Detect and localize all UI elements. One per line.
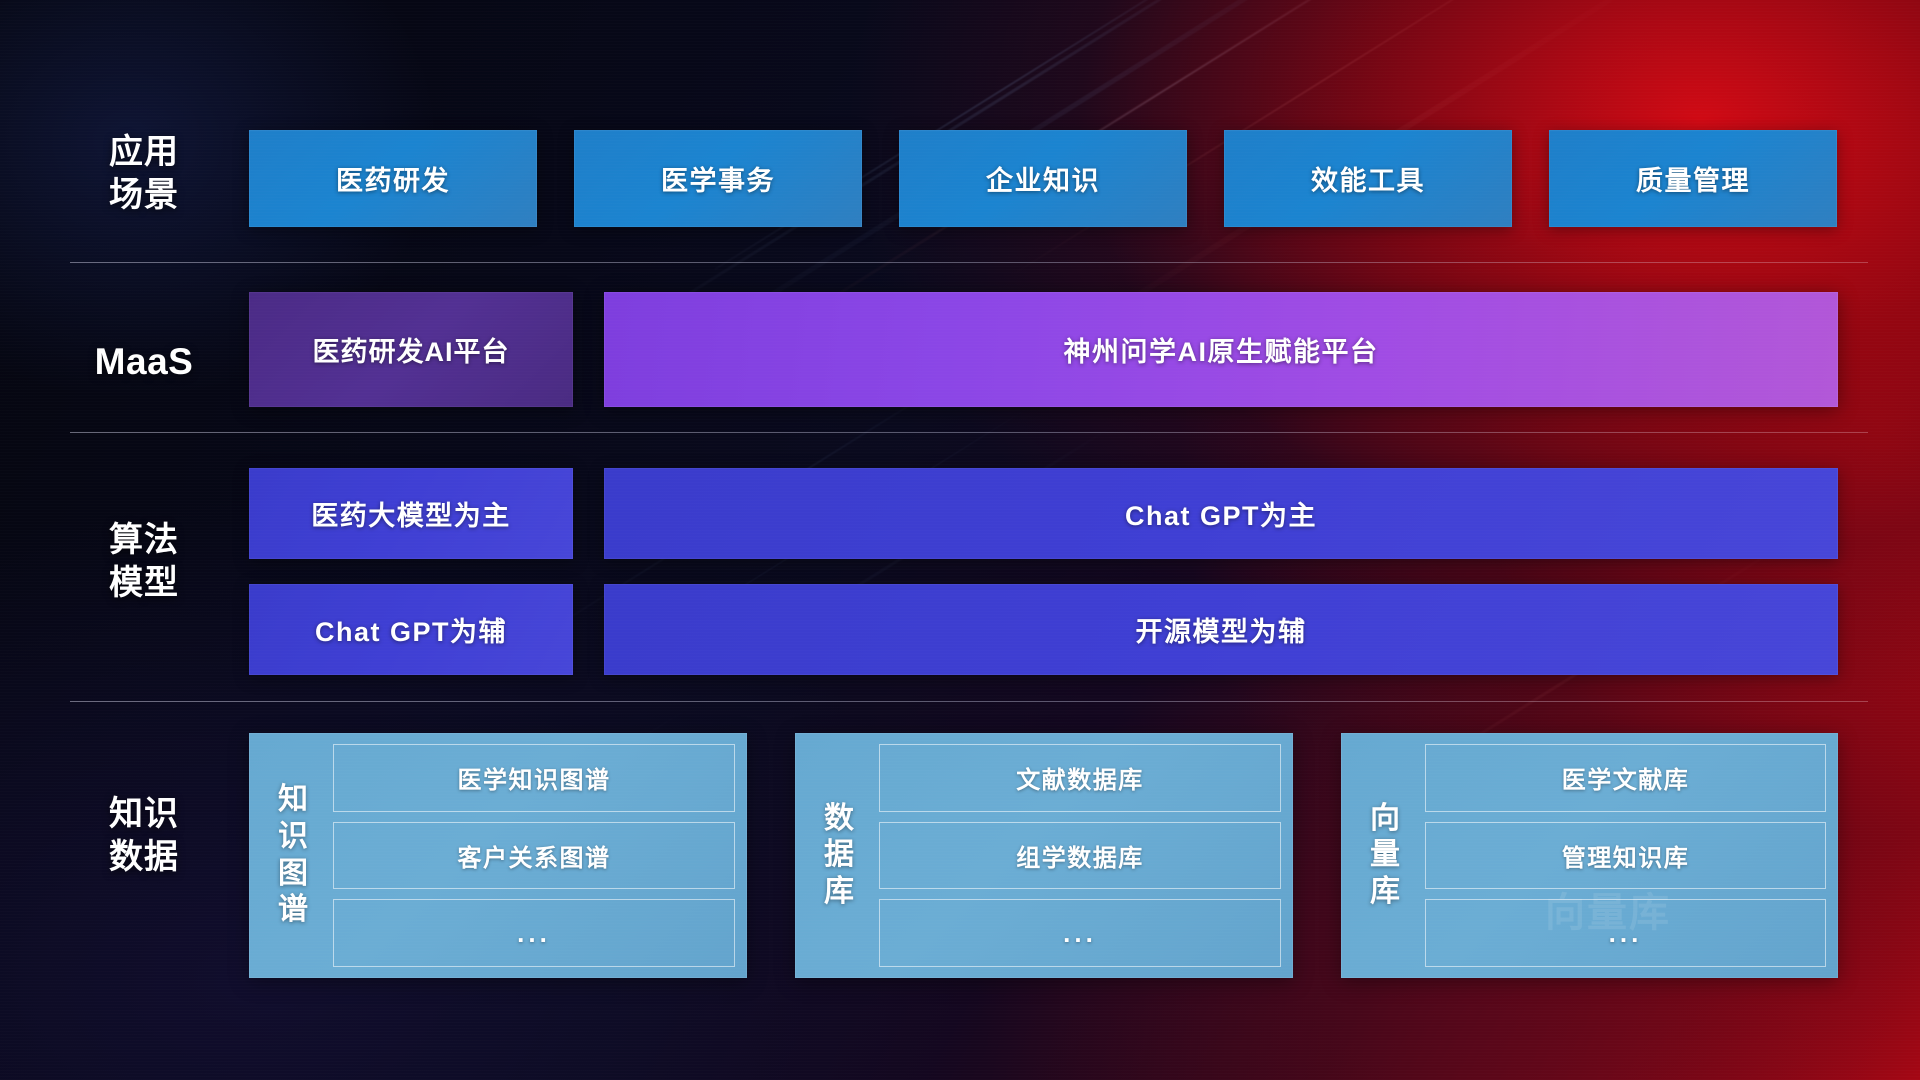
row-label-knowledge: 知识 数据 [78,793,210,879]
knowledge-item[interactable]: 文献数据库 [879,744,1281,812]
algorithm-box-label: Chat GPT为主 [1125,494,1317,533]
knowledge-item-more[interactable]: ... [1425,899,1826,967]
maas-platform-box-left[interactable]: 医药研发AI平台 [249,292,573,407]
row-label-line: 应用 [78,131,210,174]
vertical-label-char: 库 [824,874,854,911]
row-label-line: 算法 [78,519,210,562]
algorithm-box-secondary-right[interactable]: 开源模型为辅 [604,584,1838,675]
application-box-4[interactable]: 质量管理 [1549,130,1837,227]
algorithm-box-label: 开源模型为辅 [1136,610,1307,649]
knowledge-panel-title-knowledge-graph: 知 识 图 谱 [262,744,324,967]
row-label-application: 应用 场景 [78,131,210,217]
divider-algorithm-knowledge [70,701,1868,702]
row-label-line: 知识 [78,793,210,836]
algorithm-box-primary-left[interactable]: 医药大模型为主 [249,468,573,559]
knowledge-panel-items: 医学知识图谱 客户关系图谱 ... [324,744,735,967]
application-box-label: 医药研发 [336,159,450,198]
divider-maas-algorithm [70,432,1868,433]
application-box-label: 效能工具 [1311,159,1425,198]
divider-application-maas [70,262,1868,263]
maas-right-label: 神州问学AI原生赋能平台 [1064,330,1379,369]
vertical-label-char: 数 [824,801,854,838]
vertical-label-char: 图 [278,856,308,893]
knowledge-panel-vector-database[interactable]: 向 量 库 医学文献库 管理知识库 ... [1341,733,1838,978]
application-box-label: 企业知识 [986,159,1100,198]
vertical-label-char: 谱 [278,892,308,929]
knowledge-panel-title-database: 数 据 库 [808,744,870,967]
knowledge-item[interactable]: 客户关系图谱 [333,822,735,890]
vertical-label-char: 识 [278,819,308,856]
row-label-line: MaaS [78,339,210,386]
knowledge-item[interactable]: 医学知识图谱 [333,744,735,812]
knowledge-panel-items: 医学文献库 管理知识库 ... [1416,744,1826,967]
vertical-label-char: 据 [824,837,854,874]
knowledge-item[interactable]: 管理知识库 [1425,822,1826,890]
algorithm-box-secondary-left[interactable]: Chat GPT为辅 [249,584,573,675]
application-box-0[interactable]: 医药研发 [249,130,537,227]
application-box-1[interactable]: 医学事务 [574,130,862,227]
application-box-2[interactable]: 企业知识 [899,130,1187,227]
algorithm-box-primary-right[interactable]: Chat GPT为主 [604,468,1838,559]
application-box-label: 质量管理 [1636,159,1750,198]
vertical-label-char: 库 [1370,874,1400,911]
algorithm-box-label: Chat GPT为辅 [315,610,507,649]
row-label-maas: MaaS [78,339,210,386]
knowledge-panel-database[interactable]: 数 据 库 文献数据库 组学数据库 ... [795,733,1293,978]
knowledge-panel-knowledge-graph[interactable]: 知 识 图 谱 医学知识图谱 客户关系图谱 ... [249,733,747,978]
maas-platform-box-right[interactable]: 神州问学AI原生赋能平台 [604,292,1838,407]
row-label-line: 模型 [78,562,210,605]
algorithm-box-label: 医药大模型为主 [311,494,511,533]
knowledge-item[interactable]: 医学文献库 [1425,744,1826,812]
vertical-label-char: 量 [1370,837,1400,874]
knowledge-item-more[interactable]: ... [879,899,1281,967]
diagram-content: 应用 场景 医药研发 医学事务 企业知识 效能工具 质量管理 MaaS 医药研发… [0,0,1920,1080]
row-label-algorithm: 算法 模型 [78,519,210,605]
vertical-label-char: 知 [278,782,308,819]
vertical-label-char: 向 [1370,801,1400,838]
knowledge-panel-items: 文献数据库 组学数据库 ... [870,744,1281,967]
maas-left-label: 医药研发AI平台 [313,330,510,369]
row-label-line: 数据 [78,836,210,879]
knowledge-panel-title-vector-database: 向 量 库 [1354,744,1416,967]
knowledge-item[interactable]: 组学数据库 [879,822,1281,890]
row-label-line: 场景 [78,174,210,217]
application-box-label: 医学事务 [661,159,775,198]
application-box-3[interactable]: 效能工具 [1224,130,1512,227]
slide-canvas: 应用 场景 医药研发 医学事务 企业知识 效能工具 质量管理 MaaS 医药研发… [0,0,1920,1080]
knowledge-item-more[interactable]: ... [333,899,735,967]
